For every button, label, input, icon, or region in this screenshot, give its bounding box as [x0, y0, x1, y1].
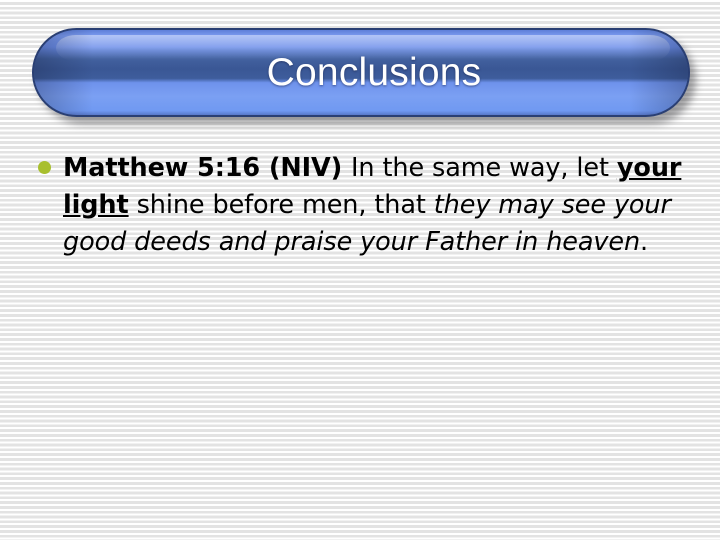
- list-item: Matthew 5:16 (NIV) In the same way, let …: [38, 150, 698, 261]
- slide-canvas: Conclusions Matthew 5:16 (NIV) In the sa…: [0, 0, 720, 540]
- slide-title-text: Conclusions: [34, 30, 688, 115]
- slide-title-block: Conclusions: [32, 28, 690, 117]
- scripture-reference: Matthew 5:16 (NIV): [63, 153, 351, 183]
- scripture-run-2: shine before men, that: [129, 190, 434, 220]
- scripture-period: .: [640, 227, 648, 257]
- bullet-paragraph: Matthew 5:16 (NIV) In the same way, let …: [63, 150, 698, 261]
- title-pill-shape: Conclusions: [32, 28, 690, 117]
- round-bullet-icon: [38, 161, 51, 174]
- scripture-run-1: In the same way, let: [351, 153, 617, 183]
- slide-body-block: Matthew 5:16 (NIV) In the same way, let …: [38, 150, 698, 261]
